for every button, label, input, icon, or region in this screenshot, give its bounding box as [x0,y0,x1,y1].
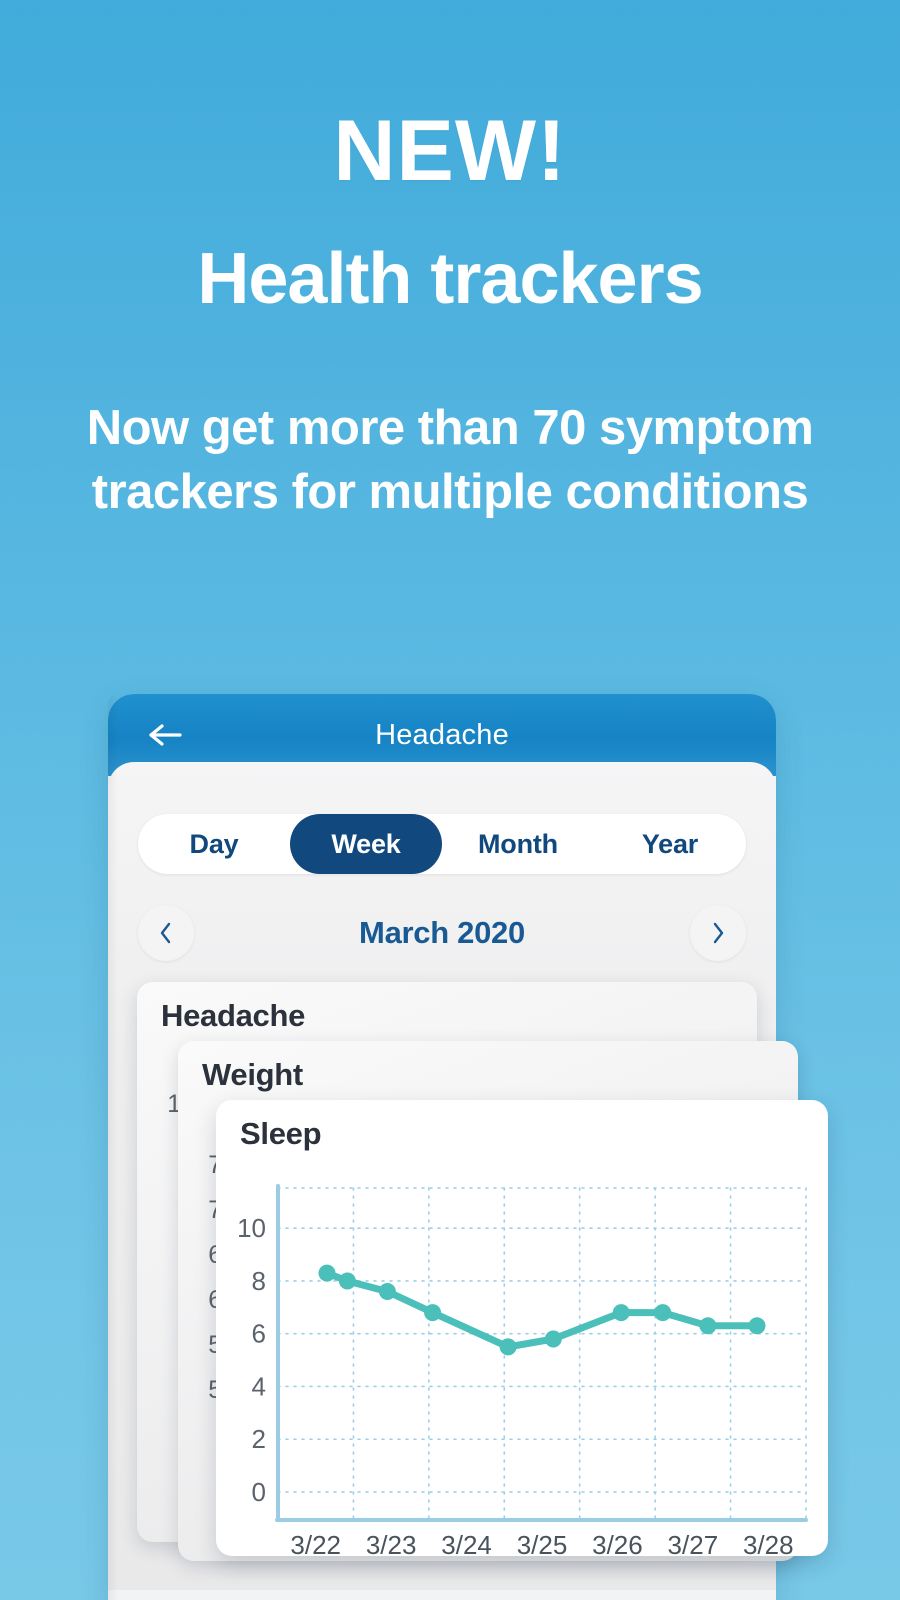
tab-year[interactable]: Year [594,814,746,874]
tab-day[interactable]: Day [138,814,290,874]
promo-banner: NEW! Health trackers Now get more than 7… [0,0,900,525]
card-title-headache: Headache [161,998,305,1034]
svg-text:4: 4 [252,1371,266,1401]
svg-text:2: 2 [252,1424,266,1454]
range-segmented-control[interactable]: Day Week Month Year [138,814,746,874]
svg-text:3/28: 3/28 [743,1530,794,1556]
promo-subtitle: Now get more than 70 symptom trackers fo… [0,318,900,525]
tab-month[interactable]: Month [442,814,594,874]
next-month-button[interactable] [690,905,746,961]
svg-text:10: 10 [237,1213,266,1243]
back-arrow-icon[interactable] [146,720,186,750]
svg-text:3/22: 3/22 [290,1530,341,1556]
svg-text:3/24: 3/24 [441,1530,492,1556]
svg-text:8: 8 [252,1266,266,1296]
svg-text:0: 0 [252,1477,266,1507]
sleep-line-chart: 02468103/223/233/243/253/263/273/28 [224,1172,820,1556]
card-title-sleep: Sleep [240,1116,321,1152]
tab-week[interactable]: Week [290,814,442,874]
svg-text:3/23: 3/23 [366,1530,417,1556]
chart-card-sleep[interactable]: Sleep 02468103/223/233/243/253/263/273/2… [216,1100,828,1556]
svg-text:3/25: 3/25 [517,1530,568,1556]
svg-text:3/27: 3/27 [668,1530,719,1556]
chevron-right-icon [708,920,728,946]
svg-text:3/26: 3/26 [592,1530,643,1556]
promo-badge: NEW! [0,0,900,194]
month-label: March 2020 [194,915,690,951]
page-title: Headache [108,719,776,752]
promo-title: Health trackers [0,194,900,318]
chevron-left-icon [156,920,176,946]
svg-text:6: 6 [252,1319,266,1349]
card-title-weight: Weight [202,1057,303,1093]
prev-month-button[interactable] [138,905,194,961]
month-navigator: March 2020 [138,902,746,964]
